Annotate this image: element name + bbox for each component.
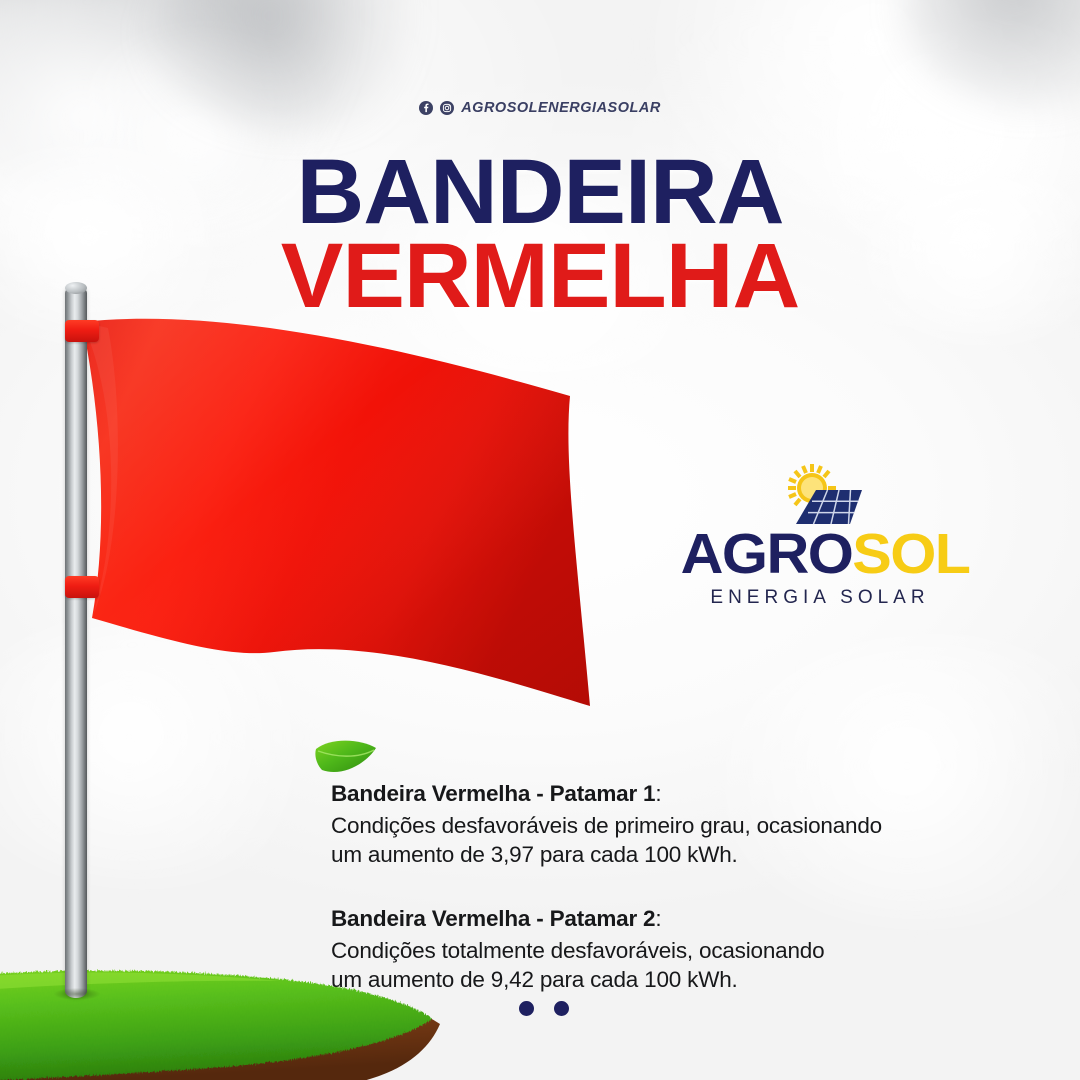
flag-band-bottom [65,576,99,598]
paragraph-1-heading: Bandeira Vermelha - Patamar 1: [331,779,951,809]
facebook-icon[interactable] [419,101,433,115]
pagination-dot-2[interactable] [554,1001,569,1016]
handle-text: AGROSOLENERGIASOLAR [461,100,661,116]
paragraph-2-line-1: Condições totalmente desfavoráveis, ocas… [331,936,951,966]
paragraph-1-colon: : [655,781,661,806]
red-flag [78,300,638,720]
logo-tagline: ENERGIA SOLAR [686,587,954,609]
pagination-dot-1[interactable] [519,1001,534,1016]
flagpole-shadow [54,988,100,1000]
paragraph-2-heading-text: Bandeira Vermelha - Patamar 2 [331,906,655,931]
title-line-1: BANDEIRA [0,152,1080,233]
paragraph-1-heading-text: Bandeira Vermelha - Patamar 1 [331,781,655,806]
social-handle[interactable]: AGROSOLENERGIASOLAR [0,100,1080,116]
logo-wordmark: AGROSOL [681,526,960,583]
poster-canvas: AGROSOLENERGIASOLAR BANDEIRA VERMELHA [0,0,1080,1080]
paragraph-1-line-2: um aumento de 3,97 para cada 100 kWh. [331,840,951,870]
logo-word-primary: AGRO [681,522,853,586]
page-title: BANDEIRA VERMELHA [0,152,1080,317]
body-copy: Bandeira Vermelha - Patamar 1: Condições… [331,779,951,995]
instagram-icon[interactable] [440,101,454,115]
paragraph-2-heading: Bandeira Vermelha - Patamar 2: [331,904,951,934]
logo-word-secondary: SOL [852,522,969,586]
flag-band-top [65,320,99,342]
leaf-icon [313,739,379,779]
agrosol-logo: AGROSOL ENERGIA SOLAR [686,462,954,609]
pagination-dots[interactable] [519,1001,569,1016]
paragraph-2-line-2: um aumento de 9,42 para cada 100 kWh. [331,965,951,995]
paragraph-patamar-1: Bandeira Vermelha - Patamar 1: Condições… [331,779,951,870]
paragraph-2-colon: : [655,906,661,931]
flagpole [65,286,87,998]
paragraph-patamar-2: Bandeira Vermelha - Patamar 2: Condições… [331,904,951,995]
title-line-2: VERMELHA [0,236,1080,317]
paragraph-1-line-1: Condições desfavoráveis de primeiro grau… [331,811,951,841]
